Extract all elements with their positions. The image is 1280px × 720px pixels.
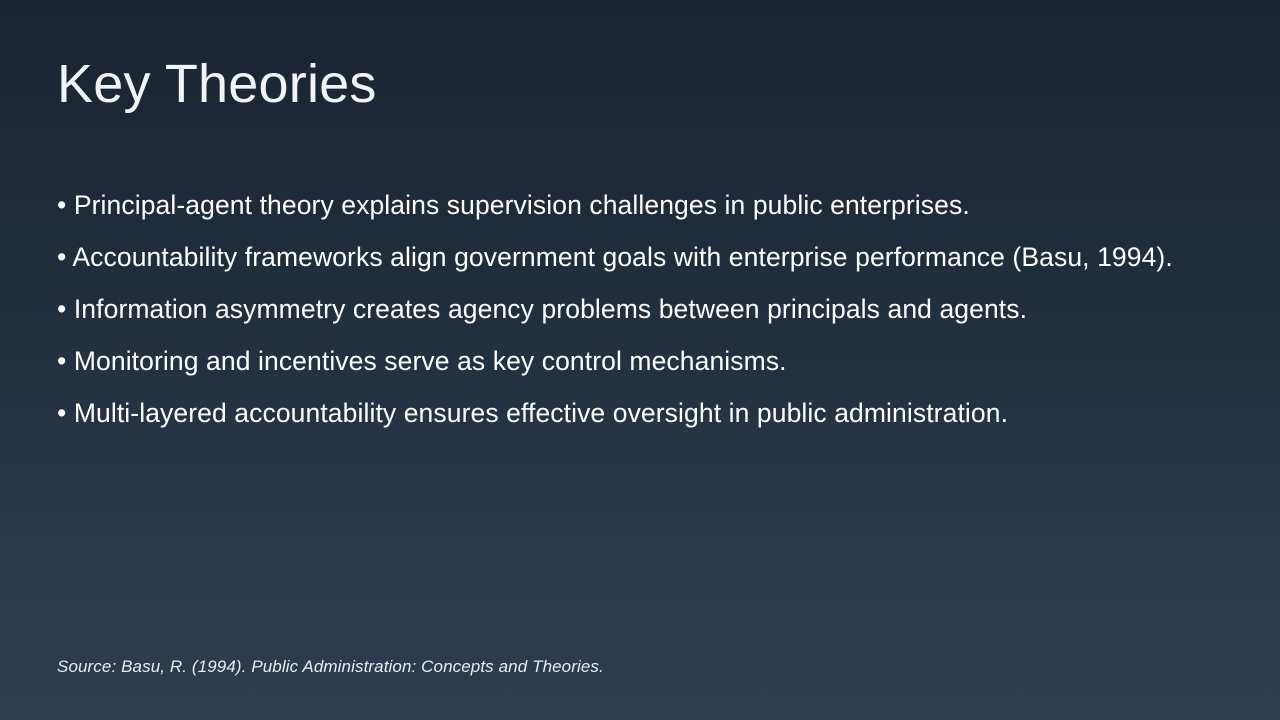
list-item: • Multi-layered accountability ensures e… bbox=[57, 394, 1217, 432]
bullet-list: • Principal-agent theory explains superv… bbox=[57, 186, 1217, 446]
list-item: • Information asymmetry creates agency p… bbox=[57, 290, 1217, 328]
list-item: • Accountability frameworks align govern… bbox=[57, 238, 1217, 276]
list-item: • Principal-agent theory explains superv… bbox=[57, 186, 1217, 224]
page-title: Key Theories bbox=[57, 55, 377, 114]
source-citation: Source: Basu, R. (1994). Public Administ… bbox=[57, 657, 604, 677]
presentation-slide: Key Theories • Principal-agent theory ex… bbox=[0, 0, 1280, 720]
list-item: • Monitoring and incentives serve as key… bbox=[57, 342, 1217, 380]
